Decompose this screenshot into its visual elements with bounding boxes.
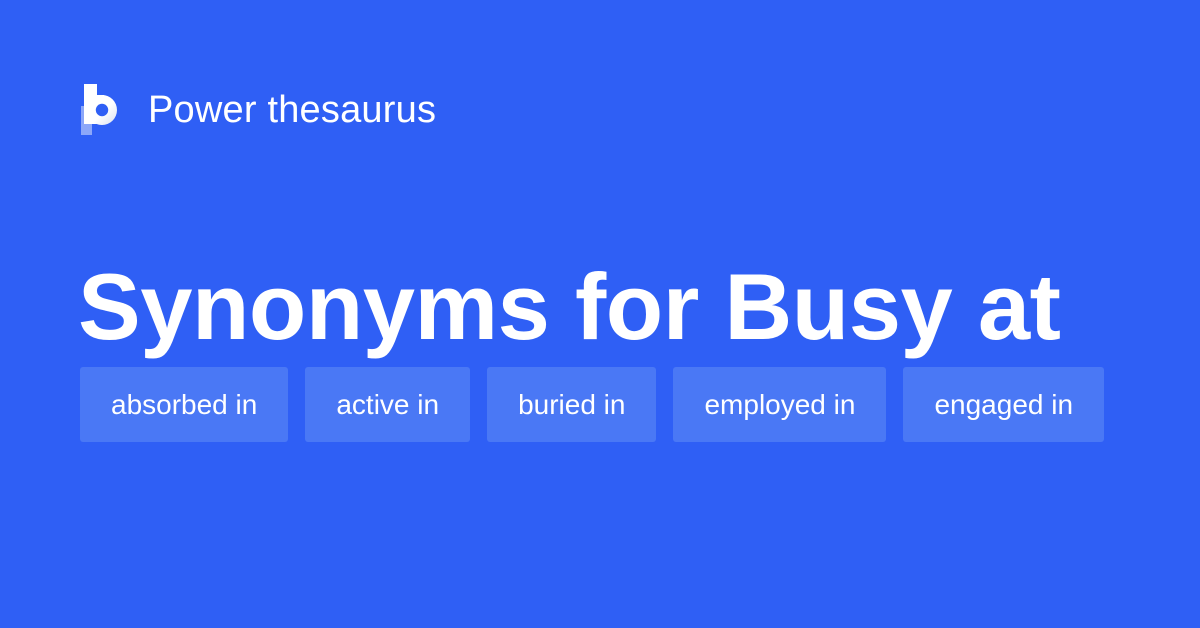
- synonym-chip[interactable]: employed in: [673, 367, 886, 442]
- synonyms-poster: Power thesaurus Synonyms for Busy at abs…: [0, 0, 1200, 628]
- synonym-chip[interactable]: absorbed in: [80, 367, 288, 442]
- synonym-chip[interactable]: buried in: [487, 367, 656, 442]
- brand-name: Power thesaurus: [148, 91, 436, 129]
- synonym-chip[interactable]: active in: [305, 367, 470, 442]
- synonym-chip[interactable]: engaged in: [903, 367, 1104, 442]
- brand-header[interactable]: Power thesaurus: [80, 82, 436, 138]
- page-title: Synonyms for Busy at: [78, 259, 1060, 355]
- power-thesaurus-b-logo-icon: [80, 84, 126, 136]
- synonym-chip-list: absorbed in active in buried in employed…: [80, 367, 1140, 442]
